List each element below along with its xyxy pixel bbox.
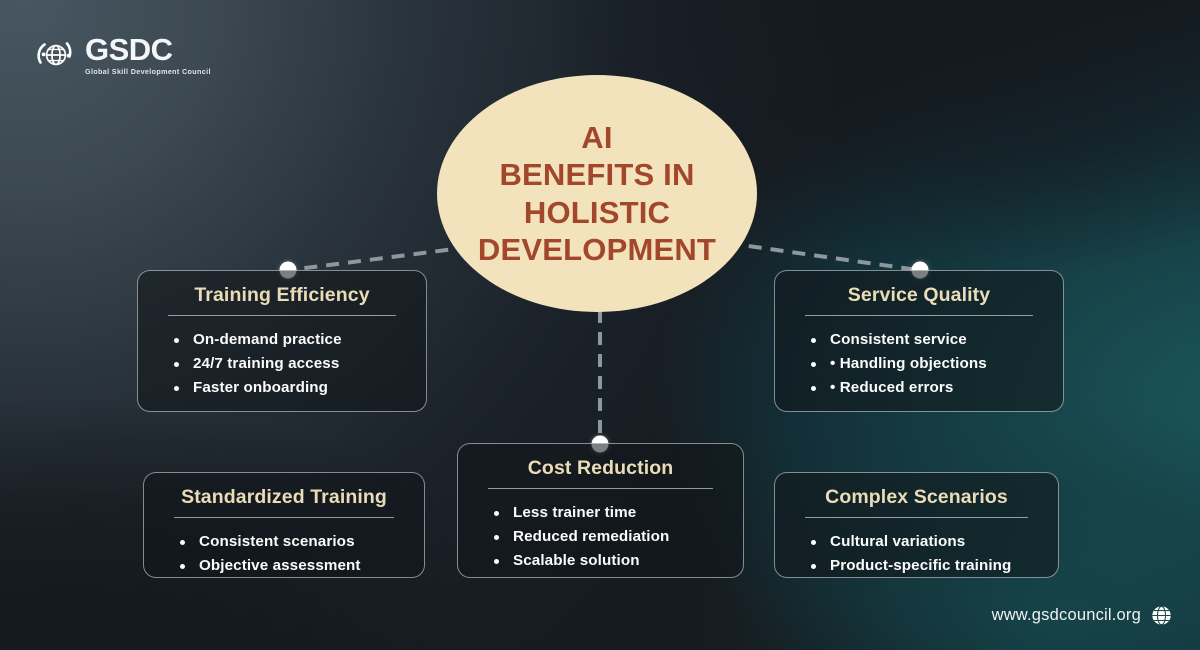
list-item: Consistent service	[811, 328, 1043, 352]
card-title: Service Quality	[795, 285, 1043, 306]
footer: www.gsdcouncil.org	[992, 605, 1172, 626]
card-bullet-list: Consistent scenarios Objective assessmen…	[164, 530, 404, 578]
list-item: Faster onboarding	[174, 376, 406, 400]
brand-logo: GSDC Global Skill Development Council	[34, 34, 211, 76]
card-divider	[805, 315, 1033, 316]
list-item: Objective assessment	[180, 554, 404, 578]
bullet-icon	[494, 511, 499, 516]
list-item: • Handling objections	[811, 352, 1043, 376]
infographic-canvas: GSDC Global Skill Development Council AI…	[0, 0, 1200, 650]
globe-icon	[34, 34, 76, 76]
card-training-efficiency[interactable]: Training Efficiency On-demand practice 2…	[137, 270, 427, 412]
card-title: Cost Reduction	[478, 458, 723, 479]
card-title: Complex Scenarios	[795, 487, 1038, 508]
card-title: Standardized Training	[164, 487, 404, 508]
list-item: Product-specific training	[811, 554, 1038, 578]
card-title: Training Efficiency	[158, 285, 406, 306]
card-divider	[805, 517, 1028, 518]
list-item: 24/7 training access	[174, 352, 406, 376]
card-bullet-list: Less trainer time Reduced remediation Sc…	[478, 501, 723, 573]
list-item-label: Consistent scenarios	[199, 533, 355, 550]
bullet-icon	[174, 338, 179, 343]
list-item-label: Faster onboarding	[193, 379, 328, 396]
bullet-icon	[811, 338, 816, 343]
website-url[interactable]: www.gsdcouncil.org	[992, 606, 1141, 625]
list-item-label: Product-specific training	[830, 557, 1011, 574]
card-divider	[168, 315, 396, 316]
central-hub: AI BENEFITS IN HOLISTIC DEVELOPMENT	[437, 75, 757, 312]
list-item: Less trainer time	[494, 501, 723, 525]
list-item-label: • Handling objections	[830, 355, 987, 372]
brand-tagline: Global Skill Development Council	[85, 68, 211, 75]
globe-icon	[1151, 605, 1172, 626]
card-service-quality[interactable]: Service Quality Consistent service • Han…	[774, 270, 1064, 412]
card-bullet-list: Cultural variations Product-specific tra…	[795, 530, 1038, 578]
card-complex-scenarios[interactable]: Complex Scenarios Cultural variations Pr…	[774, 472, 1059, 578]
card-divider	[488, 488, 713, 489]
list-item-label: Scalable solution	[513, 552, 640, 569]
brand-name: GSDC	[85, 34, 211, 65]
bullet-icon	[811, 564, 816, 569]
list-item: Cultural variations	[811, 530, 1038, 554]
bullet-icon	[811, 362, 816, 367]
hub-title: AI BENEFITS IN HOLISTIC DEVELOPMENT	[478, 119, 716, 268]
list-item-label: Objective assessment	[199, 557, 361, 574]
bullet-icon	[174, 362, 179, 367]
list-item-label: 24/7 training access	[193, 355, 339, 372]
bullet-icon	[811, 540, 816, 545]
bullet-icon	[180, 540, 185, 545]
list-item-label: Reduced remediation	[513, 528, 669, 545]
card-divider	[174, 517, 394, 518]
list-item: • Reduced errors	[811, 376, 1043, 400]
bullet-icon	[811, 386, 816, 391]
list-item: Reduced remediation	[494, 525, 723, 549]
list-item-label: • Reduced errors	[830, 379, 953, 396]
bullet-icon	[494, 535, 499, 540]
list-item: On-demand practice	[174, 328, 406, 352]
list-item: Consistent scenarios	[180, 530, 404, 554]
bullet-icon	[180, 564, 185, 569]
card-bullet-list: Consistent service • Handling objections…	[795, 328, 1043, 400]
card-cost-reduction[interactable]: Cost Reduction Less trainer time Reduced…	[457, 443, 744, 578]
list-item: Scalable solution	[494, 549, 723, 573]
list-item-label: Less trainer time	[513, 504, 636, 521]
bullet-icon	[174, 386, 179, 391]
list-item-label: Cultural variations	[830, 533, 965, 550]
card-bullet-list: On-demand practice 24/7 training access …	[158, 328, 406, 400]
list-item-label: On-demand practice	[193, 331, 342, 348]
list-item-label: Consistent service	[830, 331, 967, 348]
bullet-icon	[494, 559, 499, 564]
card-standardized-training[interactable]: Standardized Training Consistent scenari…	[143, 472, 425, 578]
